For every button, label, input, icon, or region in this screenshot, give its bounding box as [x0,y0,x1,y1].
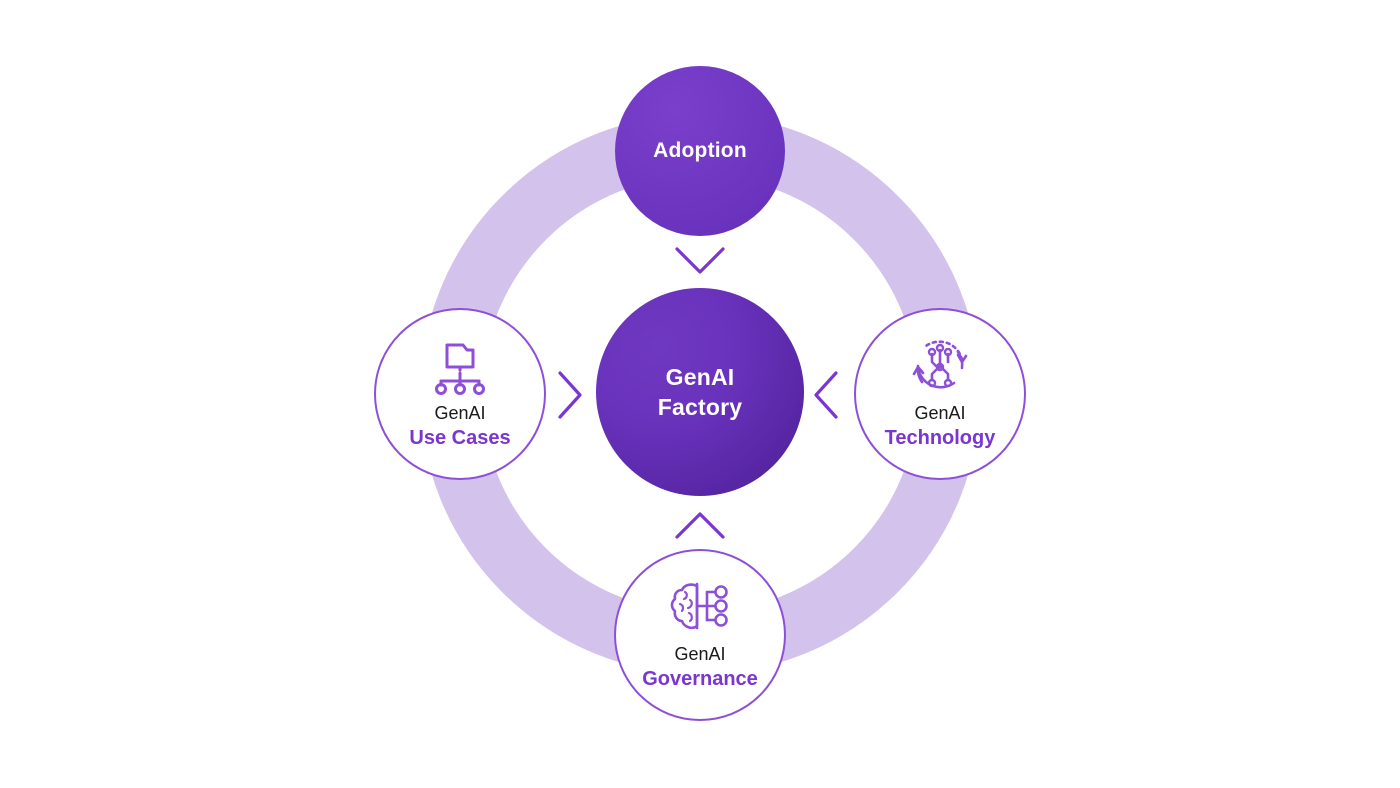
center-label-line1: GenAI [666,362,735,392]
folder-tree-icon [429,338,491,396]
chevron-down-icon [674,246,726,281]
node-label-top: GenAI [914,402,965,425]
chevron-left-icon [812,370,840,425]
node-label-bottom: Technology [885,425,996,451]
brain-circuit-icon [667,579,733,637]
node-genai-governance[interactable]: GenAI Governance [614,549,786,721]
node-label-top: GenAI [674,643,725,666]
center-node-genai-factory[interactable]: GenAI Factory [596,288,804,496]
node-label-bottom: Governance [642,666,758,692]
center-label-line2: Factory [658,392,742,422]
adoption-node[interactable]: Adoption [615,66,785,236]
node-label-bottom: Use Cases [409,425,510,451]
chevron-right-icon [556,370,584,425]
node-genai-use-cases[interactable]: GenAI Use Cases [374,308,546,480]
chevron-up-icon [674,510,726,545]
circuit-refresh-icon [908,338,972,396]
node-label-top: GenAI [434,402,485,425]
adoption-label: Adoption [653,139,747,163]
node-genai-technology[interactable]: GenAI Technology [854,308,1026,480]
diagram-canvas: Adoption GenAI Factory [0,0,1400,788]
